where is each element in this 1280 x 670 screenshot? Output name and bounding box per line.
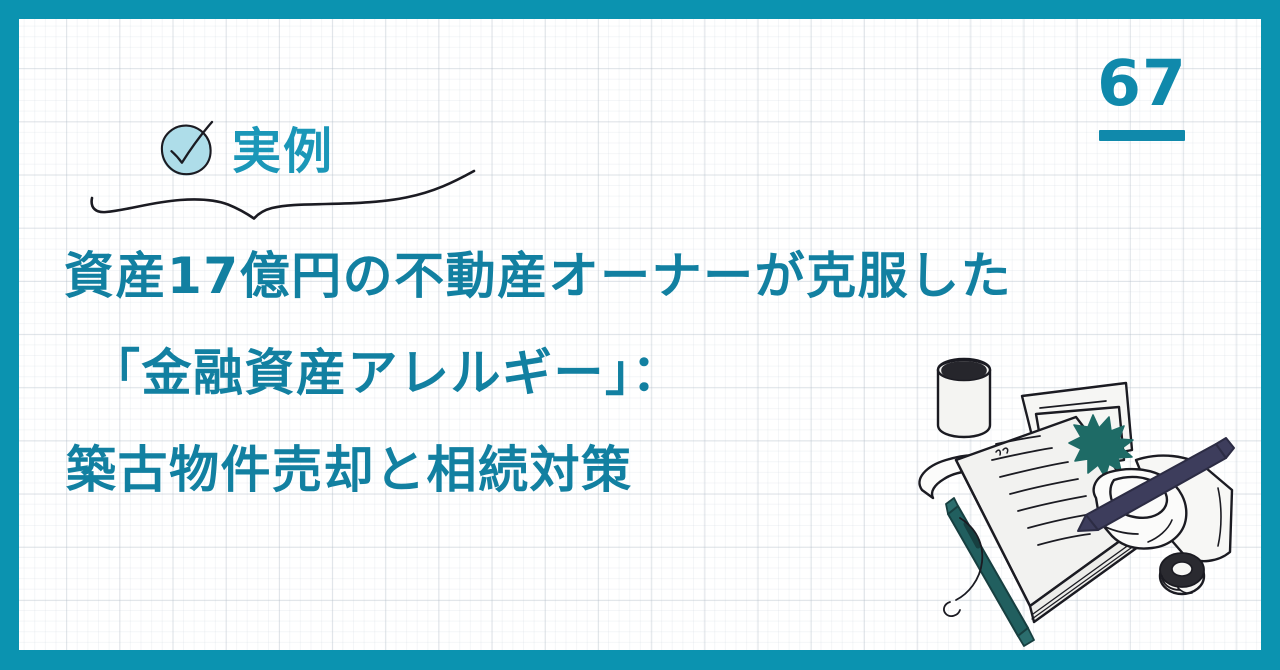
eyebrow-label: 実例 bbox=[232, 127, 334, 176]
page-title-line-3: 築古物件売却と相続対策 bbox=[64, 422, 1012, 519]
page-number: 67 bbox=[1092, 52, 1192, 115]
ring bbox=[1160, 553, 1204, 594]
page-number-underline bbox=[1099, 130, 1185, 141]
page-title-line-2: 「金融資産アレルギー」： bbox=[64, 325, 1012, 422]
page-number-block: 67 bbox=[1092, 52, 1192, 141]
slide-canvas: 67 実例 資産17億円の不動産オーナーが克服した 「金融資産アレルギー」： 築… bbox=[0, 0, 1280, 670]
page-title-line-1: 資産17億円の不動産オーナーが克服した bbox=[64, 228, 1012, 325]
check-circle-icon bbox=[152, 116, 222, 186]
page-title: 資産17億円の不動産オーナーが克服した 「金融資産アレルギー」： 築古物件売却と… bbox=[64, 228, 1012, 519]
frame-border-left bbox=[0, 0, 19, 670]
frame-border-top bbox=[0, 0, 1280, 19]
frame-border-bottom bbox=[0, 650, 1280, 670]
eyebrow-badge: 実例 bbox=[152, 116, 334, 186]
frame-border-right bbox=[1261, 0, 1280, 670]
